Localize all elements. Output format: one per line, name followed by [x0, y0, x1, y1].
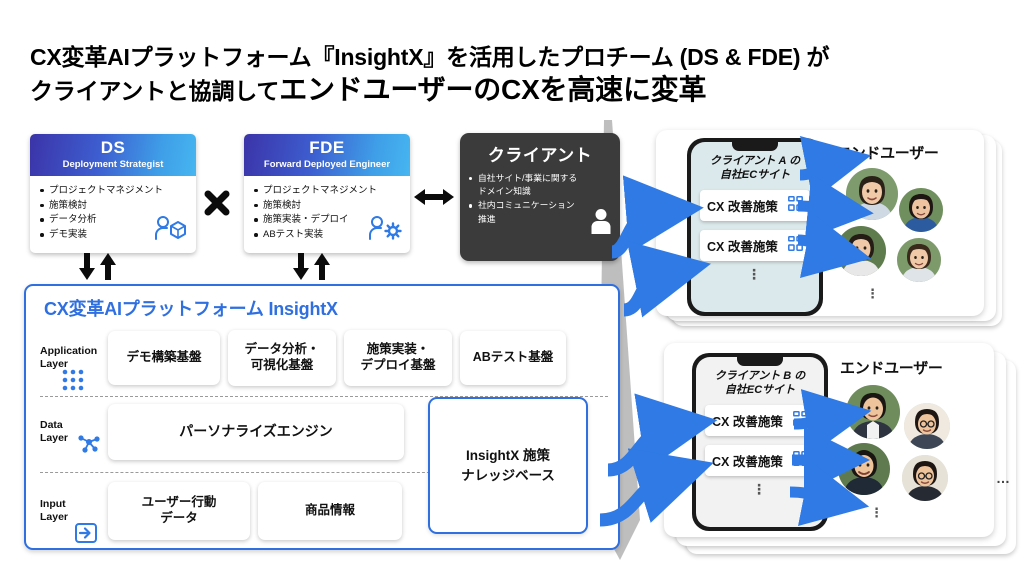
chip-ab-test-platform[interactable]: ABテスト基盤: [460, 331, 566, 385]
cx-card-label: CX 改善施策: [712, 411, 783, 430]
layer-label-input-line1: Input: [40, 498, 102, 511]
layer-row-data: Data Layer: [40, 404, 440, 460]
phone-mockup-a: クライアント A の 自社ECサイト CX 改善施策: [687, 138, 823, 316]
avatar: [899, 188, 943, 232]
cx-improvement-card[interactable]: CX 改善施策: [705, 405, 815, 436]
title-line-2-prefix: クライアントと協調して: [30, 78, 279, 104]
phone-title-b-line2: 自社ECサイト: [725, 384, 795, 396]
role-ds-abbr: DS: [32, 138, 194, 158]
phone-title-b: クライアント B の 自社ECサイト: [696, 369, 824, 398]
phone-screen-a: クライアント A の 自社ECサイト CX 改善施策: [691, 142, 819, 312]
chip-personalize-engine[interactable]: パーソナライズエンジン: [108, 404, 404, 460]
list-item: 施策検討: [252, 199, 402, 214]
phone-more-indicator: ⋮: [691, 270, 819, 278]
role-fde-full: Forward Deployed Engineer: [246, 159, 408, 170]
chip-label-line1: データ分析・: [244, 342, 319, 358]
person-cube-icon: [154, 215, 188, 246]
chip-label-line1: ユーザー行動: [142, 495, 217, 511]
diagram-canvas: CX変革AIプラットフォーム『InsightX』を活用したプロチーム (DS &…: [0, 0, 1024, 574]
arrow-down-icon: [78, 253, 96, 281]
qr-blocks-icon: [793, 451, 808, 469]
chip-user-behavior-data[interactable]: ユーザー行動 データ: [108, 482, 250, 540]
chip-label-line1: 施策実装・: [367, 342, 430, 358]
chip-product-info[interactable]: 商品情報: [258, 482, 402, 540]
client-card: クライアント 自社サイト/事業に関する ドメイン知識 社内コミュニケーション 推…: [460, 133, 620, 261]
phone-title-b-line1: クライアント B の: [715, 370, 806, 382]
layer-label-input: Input Layer: [40, 498, 102, 524]
client-bullet-1-line-1: 自社サイト/事業に関する: [478, 173, 577, 183]
chip-label-line2: デプロイ基盤: [360, 358, 435, 374]
title-line-2: クライアントと協調してエンドユーザーのCXを高速に変革: [30, 72, 990, 109]
chip-label: デモ構築基盤: [126, 350, 201, 366]
person-gear-icon: [368, 215, 402, 246]
client-panel-b: クライアント B の 自社ECサイト CX 改善施策: [664, 343, 994, 537]
client-bullet-1-line-2: ドメイン知識: [478, 186, 531, 196]
client-card-title: クライアント: [468, 141, 612, 166]
list-item: 自社サイト/事業に関する ドメイン知識: [468, 172, 612, 198]
knowledge-base-box[interactable]: InsightX 施策 ナレッジベース: [428, 397, 588, 534]
arrow-up-icon: [313, 253, 331, 281]
chip-label-line2: データ: [160, 511, 198, 527]
chip-label: 商品情報: [305, 503, 355, 519]
avatar: [897, 238, 941, 282]
knowledge-base-label: InsightX 施策 ナレッジベース: [461, 446, 555, 485]
chip-data-analysis[interactable]: データ分析・ 可視化基盤: [228, 330, 336, 386]
multiply-icon: [200, 186, 234, 220]
phone-notch: [737, 357, 783, 366]
avatar: [904, 403, 950, 449]
role-fde-body: プロジェクトマネジメント 施策検討 施策実装・デプロイ ABテスト実装: [244, 176, 410, 253]
person-icon: [590, 208, 612, 239]
cx-improvement-card[interactable]: CX 改善施策: [705, 445, 815, 476]
list-item: 施策検討: [38, 199, 188, 214]
avatar: [846, 385, 900, 439]
title-line-2-emphasis: エンドユーザーのCXを高速に変革: [279, 74, 706, 105]
chip-implementation-deploy[interactable]: 施策実装・ デプロイ基盤: [344, 330, 452, 386]
cx-improvement-card[interactable]: CX 改善施策: [700, 230, 810, 261]
layer-divider-2: [40, 472, 440, 473]
page-title: CX変革AIプラットフォーム『InsightX』を活用したプロチーム (DS &…: [30, 42, 990, 109]
chip-label: パーソナライズエンジン: [179, 423, 333, 441]
cx-improvement-card[interactable]: CX 改善施策: [700, 190, 810, 221]
client-bullet-2-line-2: 推進: [478, 214, 496, 224]
cx-card-label: CX 改善施策: [707, 196, 778, 215]
role-fde-abbr: FDE: [246, 138, 408, 158]
phone-title-a-line2: 自社ECサイト: [720, 169, 790, 181]
qr-blocks-icon: [788, 236, 803, 254]
layer-label-data: Data Layer: [40, 419, 102, 445]
arrow-up-icon: [99, 253, 117, 281]
end-user-label-a: エンドユーザー: [836, 142, 939, 163]
trailing-ellipsis: …: [996, 470, 1011, 486]
cx-card-label: CX 改善施策: [707, 236, 778, 255]
bidirectional-arrows-ds: [78, 253, 117, 281]
chip-label: ABテスト基盤: [473, 350, 554, 366]
end-user-more-indicator: ⋮: [870, 505, 884, 521]
client-panel-a: クライアント A の 自社ECサイト CX 改善施策: [656, 130, 984, 316]
chip-label-line2: 可視化基盤: [251, 358, 314, 374]
network-nodes-icon: [76, 429, 102, 459]
list-item: プロジェクトマネジメント: [252, 184, 402, 199]
bidirectional-arrows-fde: [292, 253, 331, 281]
title-line-1: CX変革AIプラットフォーム『InsightX』を活用したプロチーム (DS &…: [30, 42, 990, 72]
qr-blocks-icon: [793, 411, 808, 429]
phone-more-indicator: ⋮: [696, 485, 824, 493]
role-card-ds: DS Deployment Strategist プロジェクトマネジメント 施策…: [30, 134, 196, 253]
avatar: [838, 443, 890, 495]
avatar: [902, 455, 948, 501]
cx-card-label: CX 改善施策: [712, 451, 783, 470]
chip-demo-platform[interactable]: デモ構築基盤: [108, 331, 220, 385]
end-user-more-indicator: ⋮: [866, 286, 880, 302]
phone-notch: [732, 142, 778, 151]
role-ds-header: DS Deployment Strategist: [30, 134, 196, 176]
layer-row-input: Input Layer ユーザー行動 データ 商品情報: [40, 482, 440, 540]
role-fde-header: FDE Forward Deployed Engineer: [244, 134, 410, 176]
avatar: [836, 226, 886, 276]
left-right-arrow-icon: [414, 186, 454, 208]
platform-title: CX変革AIプラットフォーム InsightX: [44, 295, 338, 321]
qr-blocks-icon: [788, 196, 803, 214]
avatar: [846, 168, 898, 220]
bidirectional-arrow-horizontal: [414, 186, 454, 213]
phone-screen-b: クライアント B の 自社ECサイト CX 改善施策: [696, 357, 824, 527]
phone-mockup-b: クライアント B の 自社ECサイト CX 改善施策: [692, 353, 828, 531]
grid-dots-icon: [62, 369, 84, 395]
client-bullet-2-line-1: 社内コミュニケーション: [478, 200, 575, 210]
role-card-fde: FDE Forward Deployed Engineer プロジェクトマネジメ…: [244, 134, 410, 253]
list-item: プロジェクトマネジメント: [38, 184, 188, 199]
phone-title-a: クライアント A の 自社ECサイト: [691, 154, 819, 183]
layer-row-application: Application Layer デモ構築基盤 データ分析・: [40, 330, 608, 386]
layer-label-application: Application Layer: [40, 345, 102, 371]
end-user-label-b: エンドユーザー: [840, 357, 943, 378]
role-ds-body: プロジェクトマネジメント 施策検討 データ分析 デモ実装: [30, 176, 196, 253]
knowledge-base-line2: ナレッジベース: [461, 468, 555, 483]
arrow-down-icon: [292, 253, 310, 281]
role-ds-full: Deployment Strategist: [32, 159, 194, 170]
arrow-into-box-icon: [74, 522, 98, 548]
phone-title-a-line1: クライアント A の: [710, 155, 800, 167]
layer-label-application-line1: Application: [40, 345, 102, 358]
knowledge-base-line1: InsightX 施策: [466, 448, 550, 463]
